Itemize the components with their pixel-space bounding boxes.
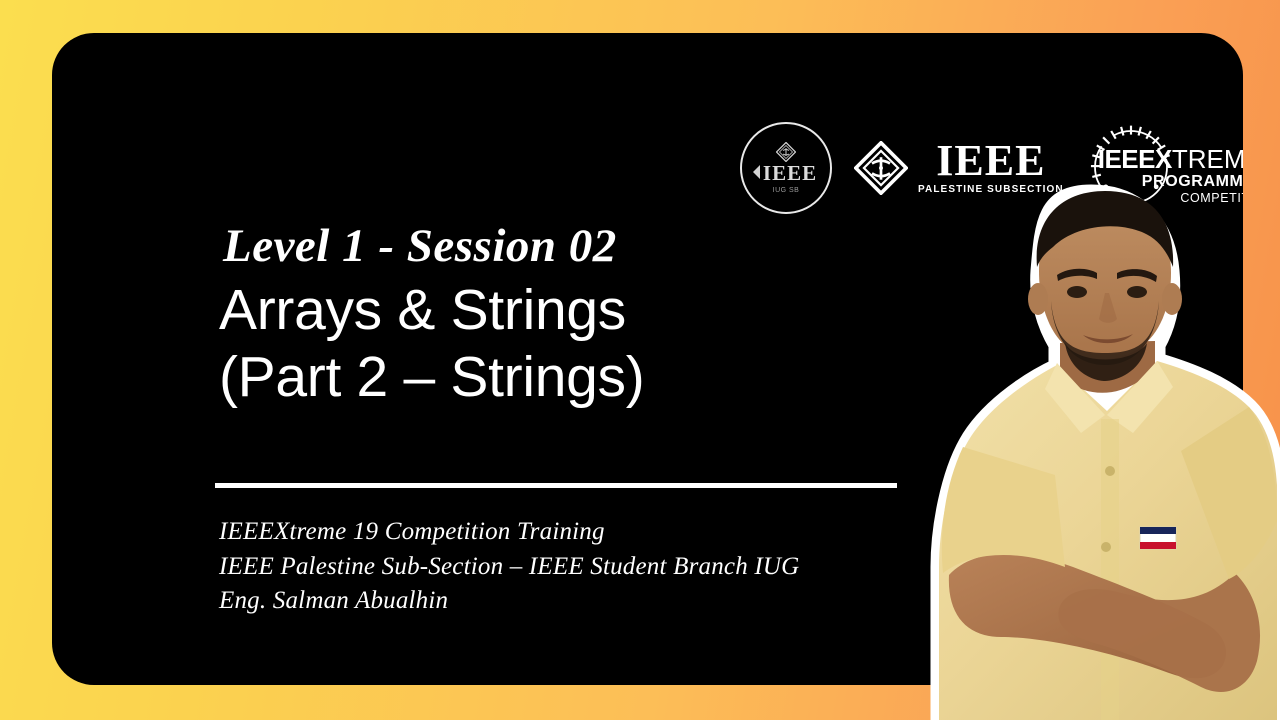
credits-line-2: IEEE Palestine Sub-Section – IEEE Studen… <box>219 550 979 585</box>
slide-card: IEEE IUG SB IEEE PALEST <box>52 33 1243 685</box>
ieee-diamond-icon <box>854 141 908 195</box>
ieee-student-branch-circle-logo: IEEE IUG SB <box>740 122 832 214</box>
logo-row: IEEE IUG SB IEEE PALEST <box>740 118 1243 218</box>
ieeextreme-thin-part: TREME <box>1172 144 1243 174</box>
ieee-student-branch-sub: IUG SB <box>773 187 800 194</box>
credits-block: IEEEXtreme 19 Competition Training IEEE … <box>219 515 979 619</box>
page-title-line-1: Arrays & Strings <box>219 277 939 344</box>
ieeextreme-bold-part: IEEEX <box>1098 144 1172 174</box>
ieeextreme-competition-label: COMPETITION <box>1098 191 1243 205</box>
credits-line-3: Eng. Salman Abualhin <box>219 584 979 619</box>
ieee-diamond-icon <box>776 142 796 162</box>
title-block: Level 1 - Session 02 Arrays & Strings (P… <box>219 219 939 412</box>
session-kicker: Level 1 - Session 02 <box>223 219 939 273</box>
ieee-wordmark: IEEE <box>755 163 817 184</box>
page-title-line-2: (Part 2 – Strings) <box>219 344 939 411</box>
ieeextreme-wordmark: IEEEXTREME PROGRAMMING COMPETITION <box>1098 146 1243 205</box>
palestine-subsection-label: PALESTINE SUBSECTION <box>918 184 1064 195</box>
ieee-wordmark: IEEE <box>936 141 1045 181</box>
presentation-slide: IEEE IUG SB IEEE PALEST <box>0 0 1280 720</box>
credits-line-1: IEEEXtreme 19 Competition Training <box>219 515 979 550</box>
title-divider <box>215 483 897 488</box>
ieeextreme-logo: IEEEXTREME PROGRAMMING COMPETITION <box>1086 120 1243 216</box>
ieee-palestine-subsection-logo: IEEE PALESTINE SUBSECTION <box>854 141 1064 195</box>
ieee-palestine-text: IEEE PALESTINE SUBSECTION <box>918 141 1064 195</box>
ieeextreme-programming-label: PROGRAMMING <box>1098 173 1243 191</box>
ieeextreme-name: IEEEXTREME <box>1098 146 1243 172</box>
